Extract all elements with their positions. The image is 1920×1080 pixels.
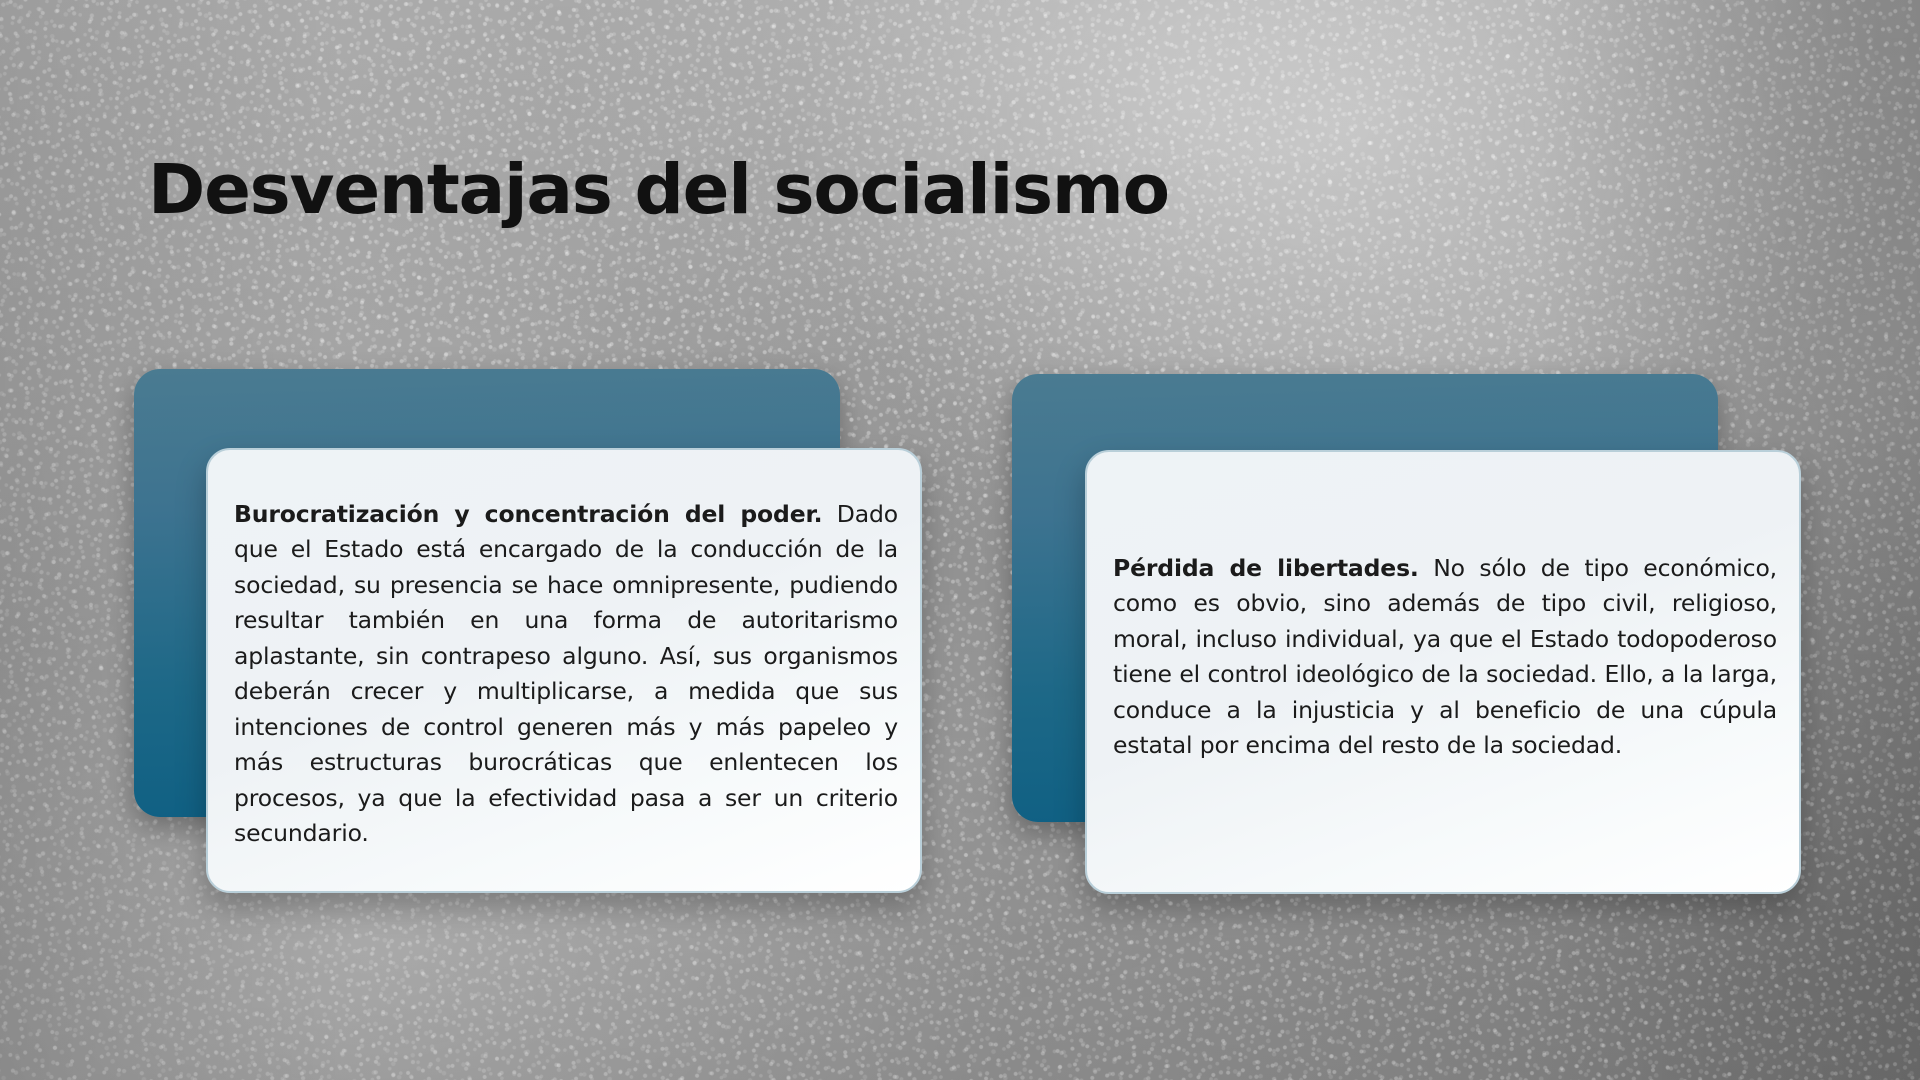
card-text-perdida-de-libertades: Pérdida de libertades. No sólo de tipo e… (1113, 551, 1777, 764)
content-card-burocratizacion[interactable]: Burocratización y concentración del pode… (206, 448, 922, 893)
slide-title: Desventajas del socialismo (148, 154, 1169, 226)
content-card-perdida-de-libertades[interactable]: Pérdida de libertades. No sólo de tipo e… (1085, 450, 1801, 894)
card-body-perdida-de-libertades: No sólo de tipo económico, como es obvio… (1113, 554, 1777, 760)
card-heading-burocratizacion: Burocratización y concentración del pode… (234, 500, 822, 528)
card-body-burocratizacion: Dado que el Estado está encargado de la … (234, 500, 898, 848)
card-heading-perdida-de-libertades: Pérdida de libertades. (1113, 554, 1419, 582)
card-text-burocratizacion: Burocratización y concentración del pode… (234, 497, 898, 852)
presentation-slide: Desventajas del socialismo Burocratizaci… (0, 0, 1920, 1080)
